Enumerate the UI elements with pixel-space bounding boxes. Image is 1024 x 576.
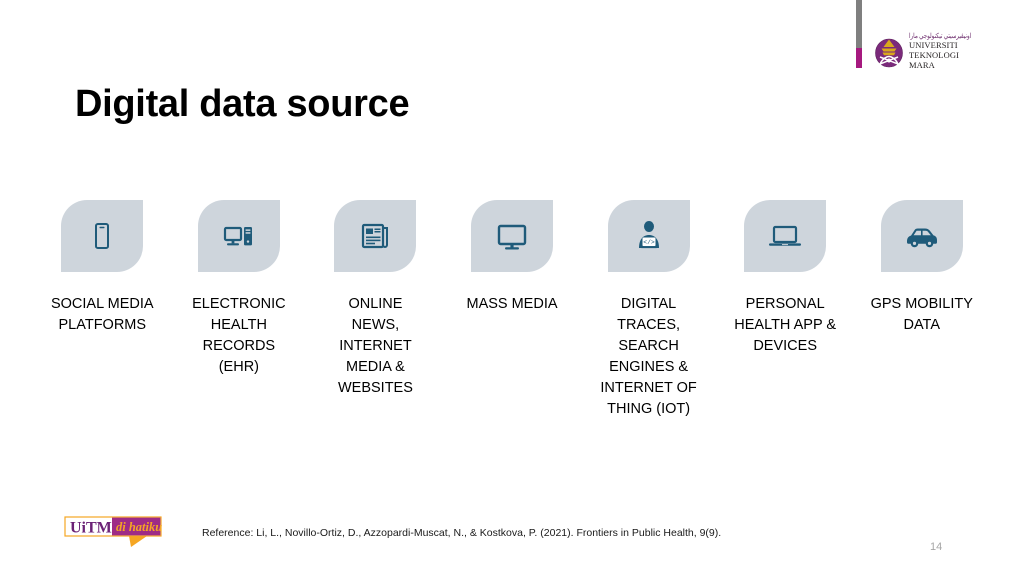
card-online-news-internet-media: ONLINE NEWS, INTERNET MEDIA & WEBSITES	[307, 200, 444, 399]
svg-text:di hatiku: di hatiku	[116, 520, 162, 534]
person-coding-icon: </>	[632, 219, 666, 253]
car-icon	[903, 219, 941, 253]
card-gps-mobility-data: GPS MOBILITY DATA	[853, 200, 990, 336]
card-label: ONLINE NEWS, INTERNET MEDIA & WEBSITES	[319, 294, 431, 399]
card-electronic-health-records: ELECTRONIC HEALTH RECORDS (EHR)	[171, 200, 308, 378]
digital-data-source-card-row: SOCIAL MEDIA PLATFORMS ELECTRONIC HEALTH…	[34, 200, 990, 420]
card-tile	[334, 200, 416, 272]
university-wordmark: اونيڤيرسيتي تيكنولوجي مارا UNIVERSITI TE…	[909, 34, 971, 71]
card-label: SOCIAL MEDIA PLATFORMS	[46, 294, 158, 336]
card-tile	[61, 200, 143, 272]
reference-citation: Reference: Li, L., Novillo-Ortiz, D., Az…	[202, 527, 721, 539]
brand-accent-bar	[856, 0, 862, 68]
slide-number: 14	[930, 541, 942, 553]
card-tile	[198, 200, 280, 272]
card-label: ELECTRONIC HEALTH RECORDS (EHR)	[183, 294, 295, 378]
card-tile	[881, 200, 963, 272]
accent-bar-gray-segment	[856, 0, 862, 48]
card-tile: </>	[608, 200, 690, 272]
newspaper-icon	[358, 219, 392, 253]
desktop-computer-icon	[221, 219, 257, 253]
card-social-media-platforms: SOCIAL MEDIA PLATFORMS	[34, 200, 171, 336]
card-tile	[471, 200, 553, 272]
svg-text:</>: </>	[643, 239, 655, 246]
laptop-icon	[766, 219, 804, 253]
page-title: Digital data source	[75, 83, 409, 126]
card-tile	[744, 200, 826, 272]
university-logo: اونيڤيرسيتي تيكنولوجي مارا UNIVERSITI TE…	[874, 31, 966, 73]
university-name-line-3: MARA	[909, 60, 971, 70]
card-label: PERSONAL HEALTH APP & DEVICES	[729, 294, 841, 357]
svg-text:UiTM: UiTM	[70, 520, 112, 537]
university-name-line-2: TEKNOLOGI	[909, 50, 971, 60]
uitm-emblem-icon	[874, 36, 904, 68]
television-icon	[494, 219, 530, 253]
university-jawi-text: اونيڤيرسيتي تيكنولوجي مارا	[909, 34, 971, 41]
mobile-phone-icon	[85, 219, 119, 253]
accent-bar-magenta-segment	[856, 48, 862, 68]
card-label: DIGITAL TRACES, SEARCH ENGINES & INTERNE…	[593, 294, 705, 420]
card-label: MASS MEDIA	[456, 294, 568, 315]
card-label: GPS MOBILITY DATA	[866, 294, 978, 336]
card-mass-media: MASS MEDIA	[444, 200, 581, 315]
uitm-di-hatiku-logo: UiTM di hatiku	[61, 511, 173, 553]
card-personal-health-app-devices: PERSONAL HEALTH APP & DEVICES	[717, 200, 854, 357]
university-name-line-1: UNIVERSITI	[909, 40, 971, 50]
card-digital-traces-search-engines-iot: </> DIGITAL TRACES, SEARCH ENGINES & INT…	[580, 200, 717, 420]
